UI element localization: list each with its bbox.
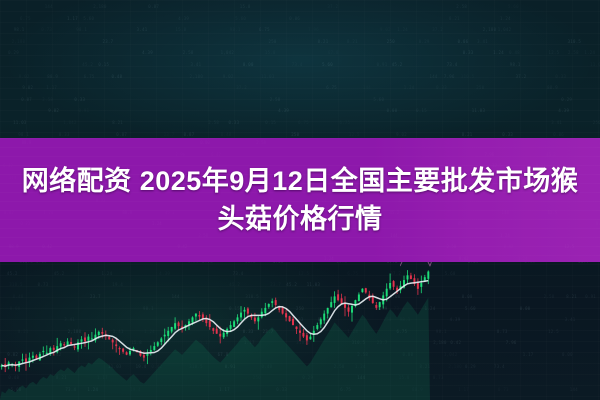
page-title: 网络配资 2025年9月12日全国主要批发市场猴 头菇价格行情 bbox=[0, 138, 600, 262]
title-banner: 88.90.002.587.960.427.9645.20.4245.212.5… bbox=[0, 138, 600, 262]
title-line-2: 头菇价格行情 bbox=[218, 200, 383, 238]
top-glow bbox=[0, 0, 600, 148]
candlestick-chart-svg bbox=[0, 250, 430, 400]
title-line-1: 网络配资 2025年9月12日全国主要批发市场猴 bbox=[22, 162, 579, 200]
screenshot-root: 1442,1800.8715.837.22.585.606.751.175.60… bbox=[0, 0, 600, 400]
candlestick-chart bbox=[0, 250, 430, 400]
bottom-glow bbox=[0, 250, 600, 400]
